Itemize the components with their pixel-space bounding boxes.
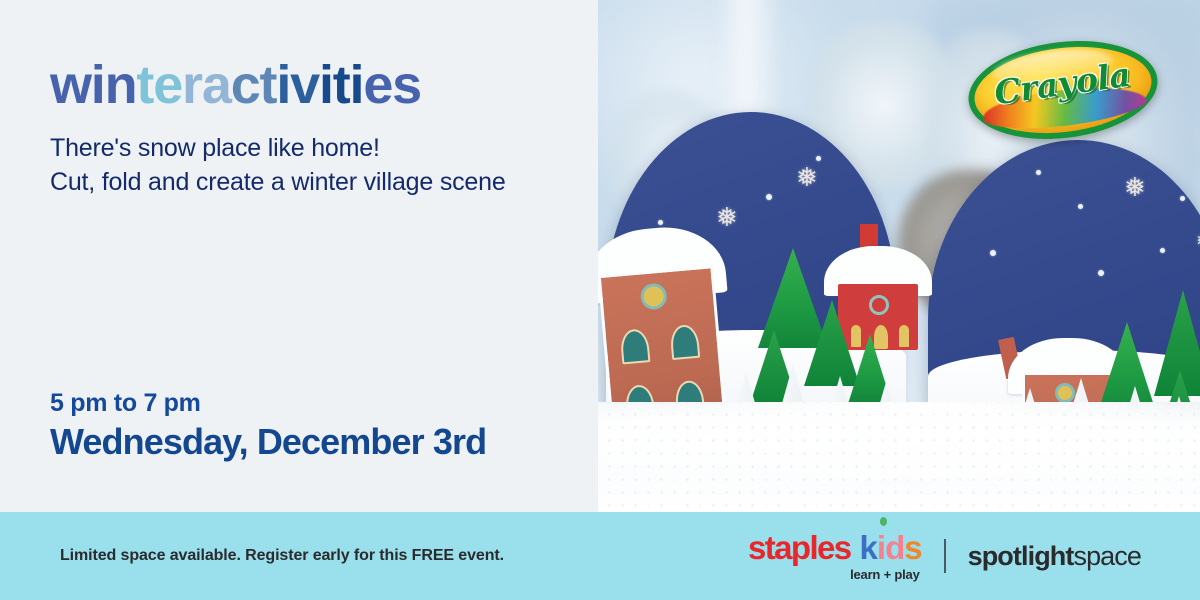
headline-segment-1: win <box>50 55 136 115</box>
spotlight-light: space <box>1073 541 1141 571</box>
house-body <box>838 284 918 350</box>
headline-segment-4: ct <box>231 55 277 115</box>
subtitle-line-2: Cut, fold and create a winter village sc… <box>50 165 506 199</box>
snowflake-icon: ❅ <box>1196 232 1200 251</box>
wreath-icon <box>1055 383 1075 403</box>
house-window <box>669 324 700 360</box>
headline-segment-5: iv <box>276 55 319 115</box>
headline-segment-2: te <box>136 55 182 115</box>
event-poster: winteractivities There's snow place like… <box>0 0 1200 600</box>
snow-dot <box>658 220 663 225</box>
house-window <box>620 328 651 364</box>
kids-wordmark: kids <box>860 531 922 564</box>
headline-segment-6: iti <box>319 55 363 115</box>
snow-dot <box>816 156 821 161</box>
footer-bar: Limited space available. Register early … <box>0 512 1200 600</box>
subtitle-line-1: There's snow place like home! <box>50 131 506 165</box>
kids-letter-i-glyph: i <box>877 529 885 566</box>
house-window <box>851 325 861 347</box>
kids-letter-d: d <box>885 529 904 566</box>
event-date: Wednesday, December 3rd <box>50 421 486 463</box>
snow-dot <box>990 250 996 256</box>
footer-logos: staples kids learn + play spotlightspace <box>748 531 1141 582</box>
house-door <box>874 325 888 349</box>
headline-segment-7: es <box>363 55 421 115</box>
subtitle: There's snow place like home! Cut, fold … <box>50 131 506 200</box>
left-text-panel: winteractivities There's snow place like… <box>0 0 600 512</box>
staples-kids-logo: staples kids learn + play <box>748 531 922 582</box>
snow-dot <box>1078 204 1083 209</box>
kids-letter-s: s <box>904 529 921 566</box>
headline-segment-3: ra <box>182 55 231 115</box>
spotlightspace-logo: spotlightspace <box>968 541 1141 572</box>
snow-texture <box>598 402 1200 512</box>
wreath-icon <box>869 295 889 315</box>
snowflake-icon: ❅ <box>1124 174 1146 200</box>
snow-dot <box>1160 248 1165 253</box>
event-time: 5 pm to 7 pm <box>50 388 486 419</box>
registration-note: Limited space available. Register early … <box>60 547 504 565</box>
snow-dot <box>1098 270 1104 276</box>
kids-i-dot <box>880 517 887 526</box>
snowflake-icon: ❅ <box>796 164 818 190</box>
spotlight-bold: spotlight <box>968 541 1074 571</box>
logo-divider <box>944 539 946 573</box>
wreath-icon <box>640 282 668 310</box>
staples-wordmark: staples <box>748 531 851 564</box>
snow-dot <box>1180 196 1185 201</box>
house-window <box>899 325 909 347</box>
event-details: 5 pm to 7 pm Wednesday, December 3rd <box>50 388 486 464</box>
snow-dot <box>766 194 772 200</box>
staples-kids-tagline: learn + play <box>748 567 922 582</box>
kids-letter-i: i <box>877 529 885 566</box>
kids-letter-k: k <box>860 529 877 566</box>
staples-kids-wordmark: staples kids <box>748 531 922 564</box>
page-title: winteractivities <box>50 58 421 112</box>
snow-dot <box>1036 170 1041 175</box>
